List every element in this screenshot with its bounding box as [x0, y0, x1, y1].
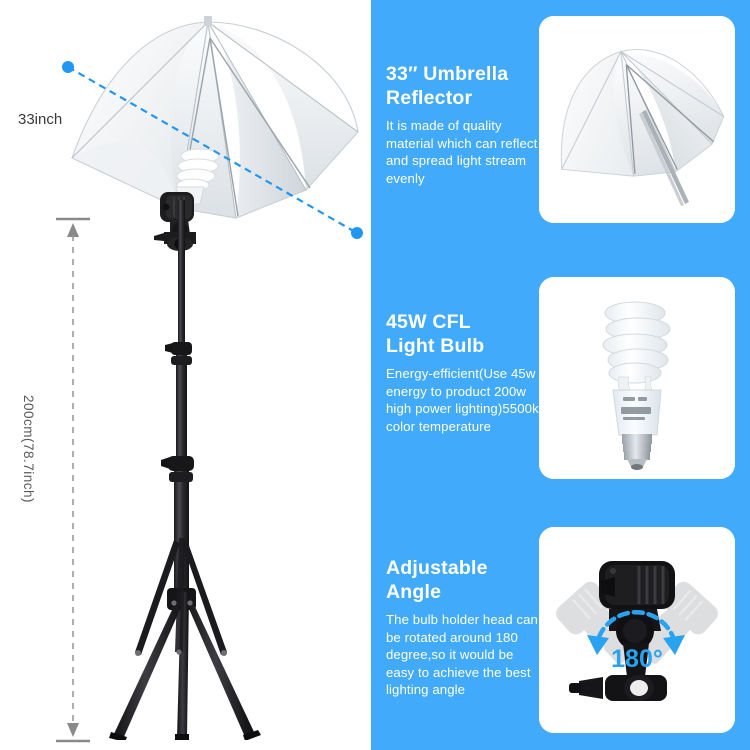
stand-lock-knob-upper: [165, 342, 192, 365]
feature-cfl-light-bulb: 45W CFL Light Bulb Energy-efficient(Use …: [386, 310, 541, 435]
feature-title: Adjustable Angle: [386, 556, 541, 604]
feature-image-card-bracket: 180°: [539, 527, 735, 733]
feature-title-line2: Angle: [386, 581, 441, 603]
bulb-holder-bracket-photo: 180°: [539, 527, 735, 733]
feature-title-line1: 45W CFL: [386, 311, 471, 333]
white-translucent-umbrella-photo: [539, 16, 735, 223]
stand-lock-knob-lower: [161, 456, 194, 482]
feature-image-card-umbrella: [539, 16, 735, 223]
feature-title-line2: Light Bulb: [386, 335, 484, 357]
feature-body: It is made of quality material which can…: [386, 117, 541, 187]
rotation-angle-label: 180°: [611, 645, 663, 673]
feature-adjustable-angle: Adjustable Angle The bulb holder head ca…: [386, 556, 541, 699]
stand-height-measure: [50, 215, 94, 745]
spiral-cfl-bulb-photo: [539, 277, 735, 479]
product-photo-area: 33inch 200cm(78.7inch): [0, 0, 371, 750]
light-stand-illustration: [95, 200, 305, 740]
feature-title: 33″ Umbrella Reflector: [386, 62, 541, 110]
feature-body: The bulb holder head can be rotated arou…: [386, 611, 541, 699]
feature-title: 45W CFL Light Bulb: [386, 310, 541, 358]
feature-body: Energy-efficient(Use 45w energy to produ…: [386, 365, 541, 435]
stand-height-label: 200cm(78.7inch): [21, 395, 36, 503]
feature-image-card-bulb: [539, 277, 735, 479]
feature-panel: 33″ Umbrella Reflector It is made of qua…: [371, 0, 750, 750]
product-infographic: 33inch 200cm(78.7inch) 33″ Umbrella Refl…: [0, 0, 750, 750]
height-arrow-top: [67, 223, 79, 237]
feature-umbrella-reflector: 33″ Umbrella Reflector It is made of qua…: [386, 62, 541, 187]
feature-title-line1: Adjustable: [386, 557, 488, 579]
umbrella-diameter-label: 33inch: [18, 111, 62, 128]
feature-title-line2: Reflector: [386, 87, 472, 109]
height-arrow-bottom: [67, 723, 79, 737]
feature-title-line1: 33″ Umbrella: [386, 63, 508, 85]
